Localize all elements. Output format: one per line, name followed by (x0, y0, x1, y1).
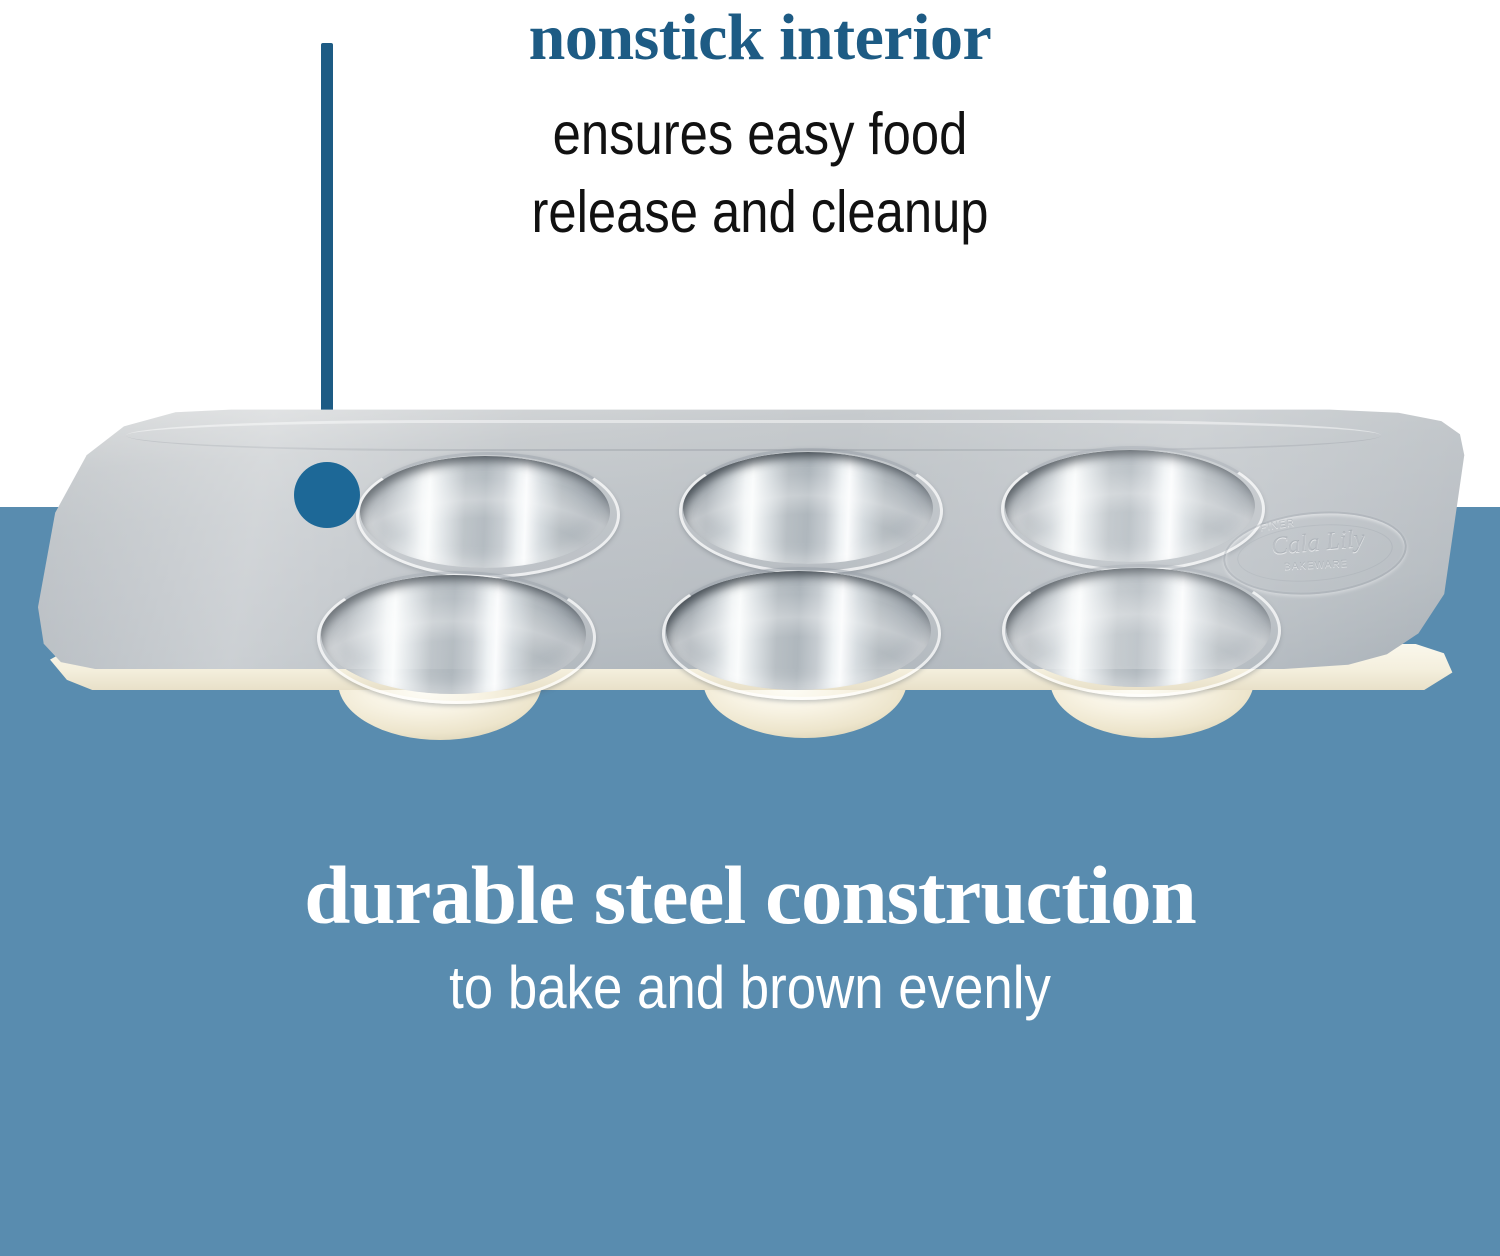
baking-cup-6 (1006, 568, 1271, 687)
callout-dot (294, 462, 360, 528)
baking-cup-4 (321, 575, 586, 694)
bottom-headline: durable steel construction (90, 853, 1410, 938)
top-subtext: ensures easy food release and cleanup (321, 95, 1198, 252)
top-subtext-line-2: release and cleanup (321, 173, 1198, 251)
bottom-subtext: to bake and brown evenly (222, 952, 1278, 1024)
baking-cup-1 (360, 456, 610, 568)
infographic-canvas: nonstick interior ensures easy food rele… (0, 0, 1500, 1256)
baking-cup-2 (683, 452, 933, 564)
muffin-pan-image: FINER Cala Lily BAKEWARE (38, 408, 1470, 708)
pan-rim-groove (126, 420, 1381, 451)
top-subtext-line-1: ensures easy food (321, 95, 1198, 173)
baking-cup-5 (666, 571, 931, 690)
baking-cup-3 (1005, 450, 1255, 562)
top-headline: nonstick interior (250, 4, 1270, 71)
